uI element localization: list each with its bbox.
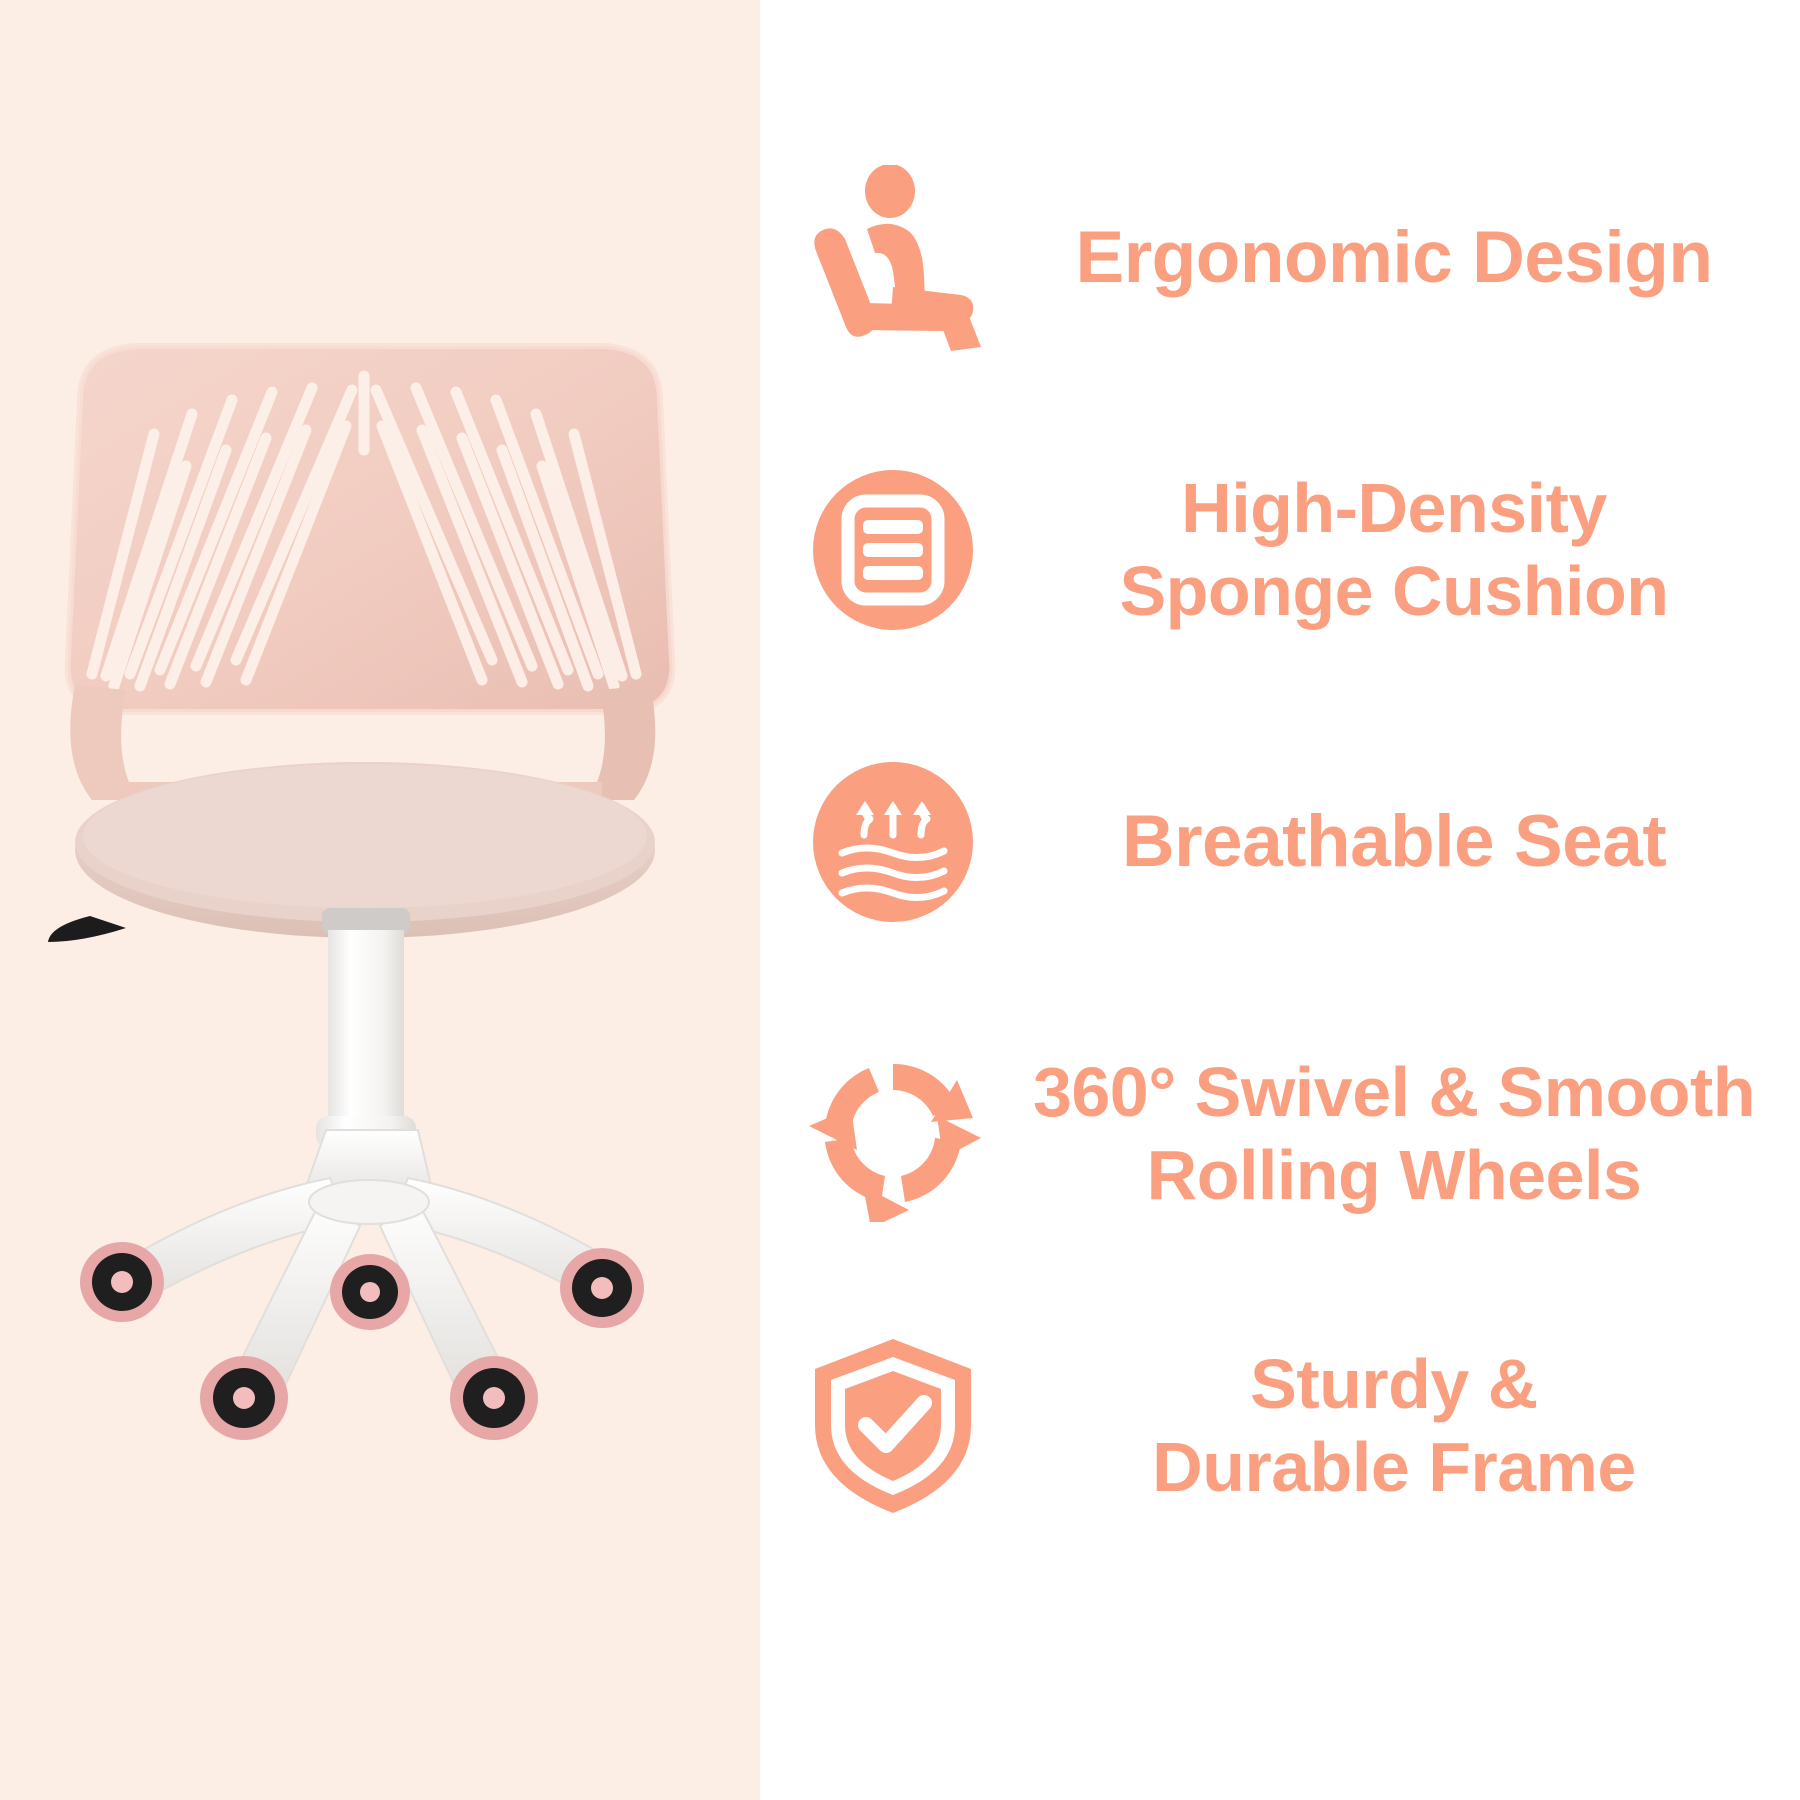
feature-label-breathable-seat: Breathable Seat (998, 799, 1800, 885)
chair-stage (0, 0, 760, 1800)
office-chair-illustration (30, 330, 690, 1490)
feature-row-breathable-seat: Breathable Seat (760, 696, 1800, 988)
feature-label-sponge-cushion: High-Density Sponge Cushion (998, 467, 1800, 632)
height-adjust-lever (48, 916, 126, 942)
feature-row-ergonomic-design: Ergonomic Design (760, 112, 1800, 404)
gas-cylinder (316, 908, 416, 1148)
feature-row-sponge-cushion: High-Density Sponge Cushion (760, 404, 1800, 696)
feature-label-ergonomic-design: Ergonomic Design (998, 215, 1800, 301)
shield-check-icon (788, 1326, 998, 1526)
feature-label-durable-frame: Sturdy & Durable Frame (998, 1343, 1800, 1508)
feature-label-swivel-wheels: 360° Swivel & Smooth Rolling Wheels (998, 1051, 1800, 1216)
feature-row-swivel-wheels: 360° Swivel & Smooth Rolling Wheels (760, 988, 1800, 1280)
airflow-waves-circle-icon (788, 742, 998, 942)
document-lines-circle-icon (788, 450, 998, 650)
feature-row-durable-frame: Sturdy & Durable Frame (760, 1280, 1800, 1572)
circular-arrows-icon (788, 1034, 998, 1234)
product-feature-infographic: Ergonomic Design High-Density Sponge Cus… (0, 0, 1800, 1800)
feature-list-panel: Ergonomic Design High-Density Sponge Cus… (760, 0, 1800, 1800)
person-sitting-on-chair-icon (788, 158, 998, 358)
product-image-panel (0, 0, 760, 1800)
chair-backrest (68, 346, 673, 712)
